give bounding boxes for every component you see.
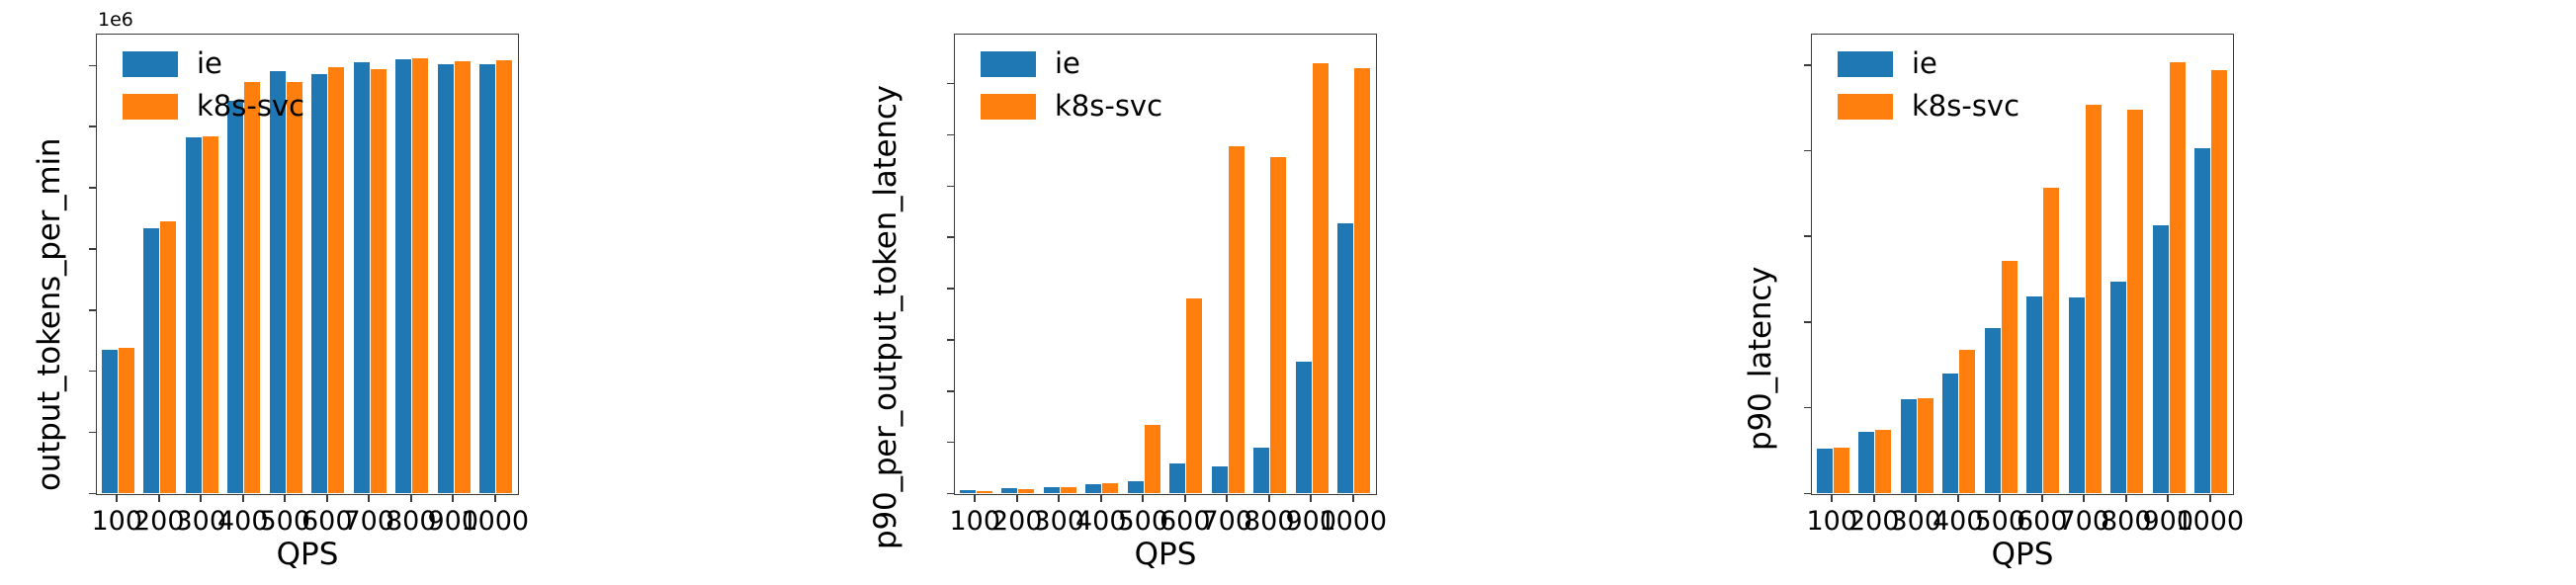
x-tick-mark [2041,495,2043,502]
bar-p90_latency-k8s-svc-900 [2170,62,2186,493]
x-tick-mark [2125,495,2127,502]
y-tick-mark [947,390,954,392]
x-tick-mark [494,495,496,502]
bar-per_token_latency-ie-600 [1169,463,1185,493]
y-axis-offset-text: 1e6 [98,9,133,31]
y-tick-mark [947,186,954,188]
bar-throughput-k8s-svc-500 [287,82,302,493]
x-tick-mark [1873,495,1875,502]
bar-per_token_latency-ie-500 [1128,481,1144,493]
bar-p90_latency-ie-1000 [2194,148,2210,493]
y-tick-mark [947,442,954,444]
x-tick-mark [2083,495,2085,502]
bar-p90_latency-ie-600 [2026,296,2042,493]
x-tick-label: 1000 [461,506,529,537]
bar-p90_latency-ie-400 [1942,374,1958,493]
bar-throughput-ie-400 [227,101,243,493]
x-axis-label-per_token_latency: QPS [968,537,1363,572]
bar-per_token_latency-ie-100 [960,490,976,493]
bar-throughput-ie-900 [438,64,454,493]
bar-throughput-k8s-svc-700 [371,69,386,493]
bar-per_token_latency-k8s-svc-600 [1186,298,1202,493]
bar-p90_latency-k8s-svc-100 [1834,448,1849,493]
bar-per_token_latency-ie-200 [1001,488,1017,493]
bar-per_token_latency-k8s-svc-100 [977,491,992,493]
bar-per_token_latency-k8s-svc-500 [1145,425,1160,493]
y-axis-label-throughput: output_tokens_per_min [32,138,67,491]
legend-per_token_latency: iek8s-svc [981,49,1162,134]
x-tick-mark [1184,495,1186,502]
bar-throughput-ie-300 [186,137,202,493]
legend-label: k8s-svc [197,92,304,121]
bar-p90_latency-k8s-svc-400 [1959,350,1975,493]
x-tick-mark [1058,495,1060,502]
y-tick-mark [947,83,954,85]
bar-throughput-k8s-svc-900 [455,61,471,493]
bar-per_token_latency-k8s-svc-200 [1018,489,1034,493]
bar-per_token_latency-ie-800 [1253,448,1269,493]
legend-entry-k8s-svc[interactable]: k8s-svc [981,92,1162,121]
bar-p90_latency-ie-900 [2153,225,2169,493]
x-tick-mark [1831,495,1833,502]
legend-label: ie [1055,49,1080,78]
y-tick-mark [89,309,96,311]
bar-p90_latency-ie-300 [1901,399,1917,493]
bar-per_token_latency-ie-900 [1296,362,1312,493]
x-tick-mark [326,495,328,502]
bar-p90_latency-ie-100 [1817,449,1833,493]
bar-throughput-k8s-svc-600 [328,67,344,493]
legend-label: k8s-svc [1912,92,2019,121]
bar-throughput-k8s-svc-100 [119,348,134,493]
bar-throughput-k8s-svc-200 [160,221,176,493]
x-tick-mark [974,495,976,502]
y-tick-mark [89,371,96,373]
y-tick-mark [1804,321,1811,323]
legend-entry-ie[interactable]: ie [981,49,1162,78]
bar-throughput-k8s-svc-800 [412,58,428,493]
y-tick-mark [89,187,96,189]
y-tick-mark [1804,235,1811,237]
x-tick-mark [1226,495,1228,502]
bar-per_token_latency-ie-400 [1085,484,1101,493]
bar-throughput-ie-200 [143,228,159,494]
x-tick-mark [1100,495,1102,502]
x-tick-mark [1352,495,1354,502]
bar-p90_latency-k8s-svc-200 [1875,430,1891,493]
bar-per_token_latency-ie-1000 [1337,223,1353,493]
x-tick-mark [158,495,160,502]
y-tick-mark [1804,407,1811,409]
y-tick-mark [89,432,96,434]
x-tick-mark [2209,495,2211,502]
bar-p90_latency-k8s-svc-600 [2043,188,2059,493]
legend-swatch-k8s-svc [981,94,1036,120]
x-tick-label: 1000 [1319,506,1387,537]
bar-throughput-ie-100 [102,350,118,493]
y-tick-mark [1804,150,1811,152]
x-tick-mark [116,495,118,502]
legend-swatch-k8s-svc [123,94,178,120]
legend-throughput: iek8s-svc [123,49,304,134]
x-tick-mark [410,495,412,502]
bar-per_token_latency-k8s-svc-400 [1102,483,1118,493]
bar-per_token_latency-ie-700 [1212,466,1228,493]
bar-throughput-k8s-svc-400 [244,82,260,493]
y-tick-mark [947,236,954,238]
legend-entry-k8s-svc[interactable]: k8s-svc [1838,92,2019,121]
x-tick-mark [452,495,454,502]
bar-p90_latency-k8s-svc-700 [2086,105,2102,493]
y-tick-mark [1804,64,1811,66]
y-tick-mark [89,65,96,67]
legend-swatch-k8s-svc [1838,94,1893,120]
x-tick-mark [1915,495,1917,502]
x-tick-label: 1000 [2176,506,2244,537]
x-axis-label-p90_latency: QPS [1825,537,2220,572]
x-tick-mark [1999,495,2001,502]
x-tick-mark [1142,495,1144,502]
bar-throughput-ie-700 [354,62,370,493]
bar-p90_latency-k8s-svc-500 [2002,261,2018,493]
bar-throughput-ie-500 [270,71,286,493]
legend-label: ie [197,49,222,78]
y-tick-mark [947,134,954,136]
bar-per_token_latency-k8s-svc-1000 [1354,68,1370,493]
bar-p90_latency-k8s-svc-800 [2127,110,2143,493]
bar-p90_latency-ie-700 [2069,297,2085,493]
legend-swatch-ie [981,51,1036,77]
legend-swatch-ie [123,51,178,77]
legend-label: k8s-svc [1055,92,1162,121]
x-tick-mark [2167,495,2169,502]
legend-entry-ie[interactable]: ie [1838,49,2019,78]
x-tick-mark [1016,495,1018,502]
y-axis-label-per_token_latency: p90_per_output_token_latency [868,85,903,549]
bar-per_token_latency-k8s-svc-300 [1061,487,1076,493]
bar-p90_latency-k8s-svc-300 [1918,398,1933,493]
x-tick-mark [242,495,244,502]
y-tick-mark [89,248,96,250]
legend-swatch-ie [1838,51,1893,77]
x-axis-label-throughput: QPS [110,537,505,572]
y-tick-mark [89,493,96,495]
x-tick-mark [368,495,370,502]
legend-p90_latency: iek8s-svc [1838,49,2019,134]
x-tick-mark [1957,495,1959,502]
y-axis-label-p90_latency: p90_latency [1743,267,1778,451]
bar-per_token_latency-k8s-svc-900 [1313,63,1329,493]
y-tick-mark [947,339,954,341]
bar-p90_latency-ie-800 [2110,282,2126,493]
bar-per_token_latency-k8s-svc-700 [1229,146,1245,493]
legend-entry-ie[interactable]: ie [123,49,304,78]
x-tick-mark [1268,495,1270,502]
bar-per_token_latency-ie-300 [1044,487,1060,493]
y-tick-mark [947,493,954,495]
x-tick-mark [284,495,286,502]
bar-p90_latency-k8s-svc-1000 [2211,70,2227,493]
bar-p90_latency-ie-500 [1985,328,2001,493]
figure-canvas: 1e60.00.51.01.52.02.53.03.51002003004005… [0,0,2576,585]
bar-throughput-ie-600 [311,74,327,493]
x-tick-mark [1310,495,1312,502]
x-tick-mark [200,495,202,502]
legend-entry-k8s-svc[interactable]: k8s-svc [123,92,304,121]
bar-per_token_latency-k8s-svc-800 [1270,157,1286,493]
legend-label: ie [1912,49,1937,78]
bar-throughput-k8s-svc-1000 [496,60,512,493]
bar-throughput-ie-800 [395,59,411,493]
bar-p90_latency-ie-200 [1858,432,1874,493]
y-tick-mark [947,288,954,290]
bar-throughput-ie-1000 [479,64,495,493]
y-tick-mark [89,125,96,127]
y-tick-mark [1804,493,1811,495]
bar-throughput-k8s-svc-300 [203,136,218,493]
